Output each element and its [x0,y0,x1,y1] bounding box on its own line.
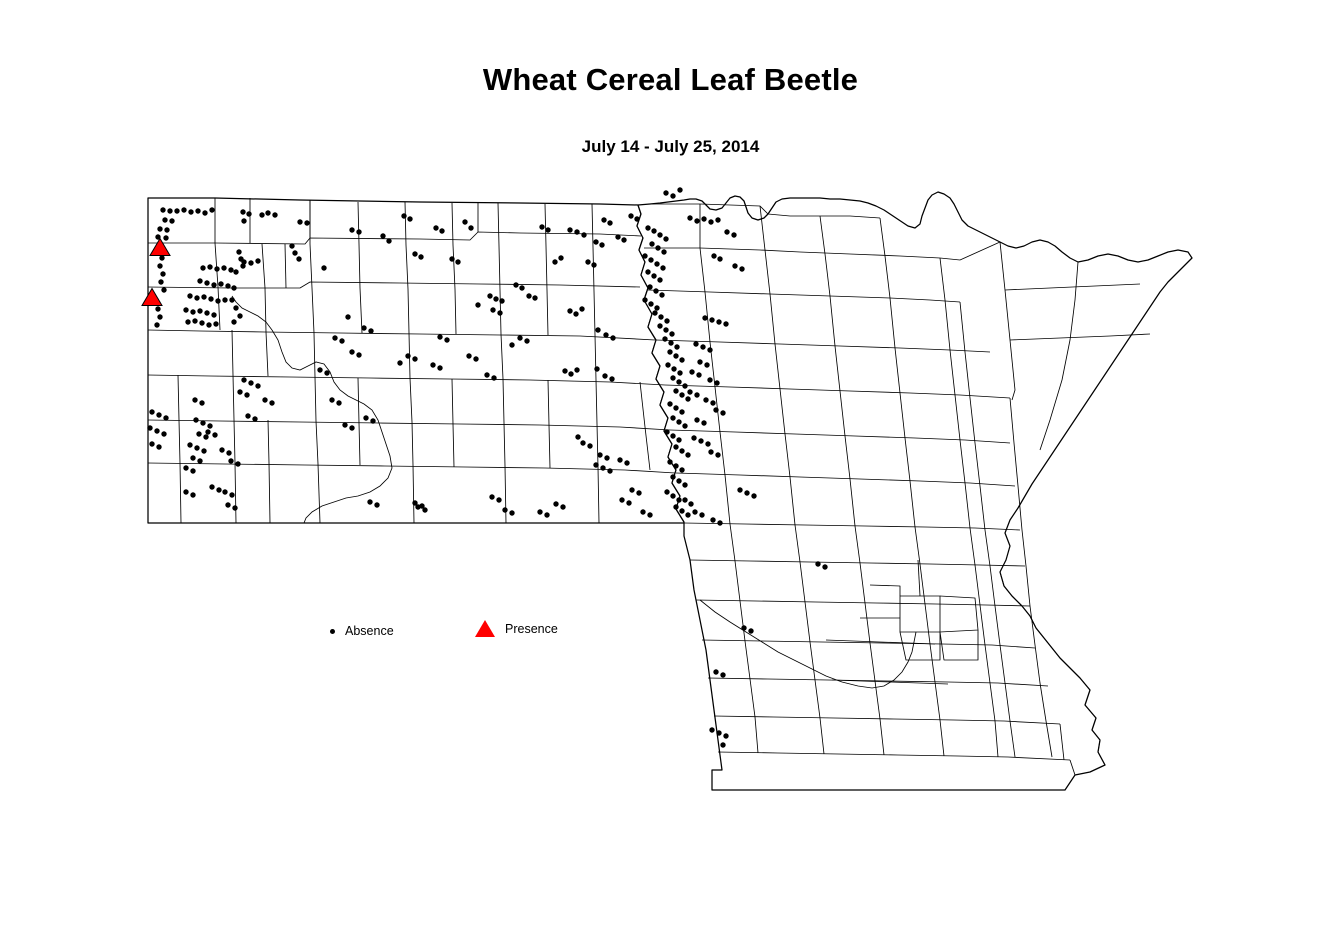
map-point-absence [717,520,722,525]
map-point-absence [231,285,236,290]
map-point-absence [676,379,681,384]
map-point-absence [509,342,514,347]
map-point-absence [691,435,696,440]
map-point-absence [662,336,667,341]
map-point-absence [700,344,705,349]
map-point-absence [553,501,558,506]
map-point-absence [160,271,165,276]
map-point-absence [705,441,710,446]
dot-marker-icon [330,629,335,634]
map-point-absence [636,490,641,495]
map-point-absence [651,228,656,233]
map-point-absence [237,313,242,318]
map-point-absence [188,209,193,214]
map-point-absence [670,433,675,438]
map-point-absence [232,505,237,510]
map-point-absence [815,561,820,566]
map-point-absence [218,281,223,286]
map-point-absence [363,415,368,420]
map-point-absence [149,409,154,414]
map-point-absence [741,625,746,630]
map-point-absence [444,337,449,342]
map-point-absence [342,422,347,427]
map-point-absence [715,452,720,457]
map-point-absence [502,507,507,512]
map-point-absence [649,241,654,246]
map-point-absence [195,208,200,213]
map-point-absence [708,449,713,454]
map-point-absence [490,307,495,312]
map-point-absence [401,213,406,218]
map-point-absence [664,489,669,494]
map-point-absence [707,377,712,382]
map-point-absence [748,628,753,633]
map-point-absence [233,269,238,274]
map-point-absence [248,380,253,385]
map-point-absence [658,314,663,319]
map-point-absence [682,497,687,502]
map-point-absence [221,265,226,270]
map-point-absence [241,218,246,223]
map-point-absence [716,319,721,324]
map-point-absence [499,298,504,303]
map-point-absence [233,305,238,310]
map-point-absence [624,460,629,465]
map-point-absence [664,429,669,434]
map-point-absence [667,401,672,406]
map-point-absence [629,487,634,492]
map-point-absence [497,310,502,315]
map-point-absence [693,341,698,346]
map-point-absence [455,259,460,264]
map-point-absence [207,423,212,428]
map-point-absence [696,372,701,377]
map-point-absence [661,249,666,254]
map-point-absence [159,255,164,260]
map-point-absence [689,369,694,374]
map-point-absence [214,266,219,271]
map-point-absence [197,458,202,463]
map-point-absence [660,265,665,270]
map-point-absence [192,397,197,402]
map-point-absence [193,417,198,422]
map-point-absence [332,335,337,340]
map-point-absence [665,362,670,367]
map-point-absence [289,243,294,248]
map-point-absence [731,232,736,237]
triangle-marker-icon [475,620,495,637]
map-point-absence [200,420,205,425]
map-point-absence [241,259,246,264]
map-point-absence [517,335,522,340]
map-point-absence [248,260,253,265]
map-point-absence [711,253,716,258]
map-point-absence [513,282,518,287]
map-point-absence [737,487,742,492]
map-point-absence [183,307,188,312]
map-point-absence [581,232,586,237]
map-point-absence [663,327,668,332]
map-point-absence [669,331,674,336]
map-point-absence [484,372,489,377]
legend-item-presence[interactable]: Presence [475,620,558,637]
map-canvas[interactable] [0,0,1341,926]
legend-label-absence: Absence [345,624,394,638]
map-point-absence [679,448,684,453]
map-point-absence [673,405,678,410]
map-point-absence [648,257,653,262]
map-point-absence [209,484,214,489]
map-point-absence [509,510,514,515]
map-point-absence [634,216,639,221]
map-point-absence [677,370,682,375]
map-point-absence [197,308,202,313]
map-point-absence [370,418,375,423]
map-point-absence [174,208,179,213]
map-point-absence [607,220,612,225]
map-point-absence [642,297,647,302]
map-point-absence [654,261,659,266]
map-point-absence [679,409,684,414]
map-point-absence [339,338,344,343]
map-point-absence [222,489,227,494]
map-point-absence [701,420,706,425]
map-point-absence [702,315,707,320]
map-point-absence [147,425,152,430]
map-point-absence [600,465,605,470]
map-point-absence [199,400,204,405]
map-point-absence [567,308,572,313]
map-point-absence [822,564,827,569]
map-point-absence [670,474,675,479]
map-point-absence [562,368,567,373]
map-point-absence [679,392,684,397]
map-point-absence [723,321,728,326]
map-point-absence [708,219,713,224]
map-point-absence [673,463,678,468]
map-point-absence [670,193,675,198]
map-point-absence [716,730,721,735]
map-point-absence [651,273,656,278]
map-point-absence [537,509,542,514]
map-point-absence [732,263,737,268]
map-point-absence [449,256,454,261]
map-point-absence [663,236,668,241]
map-point-absence [491,375,496,380]
map-point-absence [699,512,704,517]
map-point-absence [664,318,669,323]
map-point-absence [204,310,209,315]
map-point-absence [252,416,257,421]
map-point-absence [704,362,709,367]
map-point-absence [269,400,274,405]
map-point-absence [204,280,209,285]
map-point-absence [694,218,699,223]
map-point-absence [573,311,578,316]
map-point-absence [158,279,163,284]
map-point-absence [197,278,202,283]
map-point-absence [462,219,467,224]
map-point-absence [475,302,480,307]
map-point-absence [292,250,297,255]
map-point-absence [229,297,234,302]
map-point-absence [187,293,192,298]
map-point-absence [231,319,236,324]
map-point-absence [677,187,682,192]
map-point-absence [593,462,598,467]
map-point-absence [593,239,598,244]
map-point-absence [187,442,192,447]
map-point-absence [676,437,681,442]
map-point-absence [437,365,442,370]
map-point-absence [679,357,684,362]
map-point-absence [185,319,190,324]
map-point-absence [673,353,678,358]
map-point-absence [545,227,550,232]
map-point-absence [692,509,697,514]
map-point-absence [657,323,662,328]
map-point-absence [626,500,631,505]
map-point-absence [345,314,350,319]
minnesota-outline [637,192,1192,790]
map-point-absence [673,444,678,449]
map-point-absence [161,287,166,292]
map-point-absence [647,284,652,289]
map-point-absence [222,297,227,302]
map-point-absence [720,672,725,677]
map-point-absence [751,493,756,498]
map-point-absence [723,733,728,738]
map-point-absence [574,367,579,372]
map-point-absence [181,207,186,212]
map-svg [0,0,1341,926]
map-point-absence [682,482,687,487]
map-point-absence [710,400,715,405]
map-point-absence [601,217,606,222]
map-point-absence [219,447,224,452]
map-point-absence [262,397,267,402]
map-point-absence [720,742,725,747]
map-point-absence [707,347,712,352]
legend: Absence Presence [320,620,620,654]
map-point-absence [682,423,687,428]
map-point-absence [628,213,633,218]
map-point-absence [602,373,607,378]
map-point-absence [715,217,720,222]
map-point-absence [216,487,221,492]
map-point-absence [160,207,165,212]
map-point-absence [667,349,672,354]
map-point-absence [225,283,230,288]
map-point-absence [558,255,563,260]
map-point-absence [674,344,679,349]
map-point-absence [149,441,154,446]
map-point-absence [418,254,423,259]
map-point-absence [687,389,692,394]
map-point-absence [155,306,160,311]
map-point-absence [544,512,549,517]
map-point-absence [183,489,188,494]
map-point-absence [697,359,702,364]
map-point-absence [412,251,417,256]
map-point-absence [163,235,168,240]
map-point-absence [694,417,699,422]
map-point-absence [164,227,169,232]
map-point-absence [688,501,693,506]
map-point-absence [329,397,334,402]
map-point-absence [157,314,162,319]
map-point-absence [259,212,264,217]
map-point-absence [190,492,195,497]
map-point-absence [493,296,498,301]
map-point-absence [714,380,719,385]
map-point-absence [255,383,260,388]
map-point-absence [594,366,599,371]
map-point-absence [244,392,249,397]
map-point-absence [336,400,341,405]
map-point-absence [156,444,161,449]
map-point-absence [679,508,684,513]
map-point-absence [567,227,572,232]
legend-label-presence: Presence [505,622,558,636]
map-point-absence [163,415,168,420]
map-point-absence [211,282,216,287]
map-point-absence [412,356,417,361]
map-point-absence [607,468,612,473]
map-point-absence [439,228,444,233]
map-point-absence [194,295,199,300]
map-point-absence [154,428,159,433]
map-point-absence [265,210,270,215]
map-point-absence [154,322,159,327]
map-point-absence [356,352,361,357]
map-point-absence [670,415,675,420]
map-point-absence [190,309,195,314]
map-point-absence [673,388,678,393]
map-point-absence [496,497,501,502]
map-point-absence [367,499,372,504]
map-point-absence [713,669,718,674]
map-point-absence [659,292,664,297]
map-point-absence [610,335,615,340]
map-point-absence [645,225,650,230]
map-point-absence [539,224,544,229]
map-point-absence [489,494,494,499]
map-point-absence [208,296,213,301]
map-point-absence [519,285,524,290]
map-point-absence [255,258,260,263]
map-point-absence [225,502,230,507]
legend-item-absence[interactable]: Absence [330,624,394,638]
map-point-absence [380,233,385,238]
state-outlines [148,192,1192,790]
map-point-absence [710,517,715,522]
map-point-absence [621,237,626,242]
map-point-absence [386,238,391,243]
map-point-absence [698,438,703,443]
map-point-absence [405,353,410,358]
map-point-absence [657,277,662,282]
map-point-absence [682,383,687,388]
map-point-absence [157,263,162,268]
map-point-absence [744,490,749,495]
map-point-absence [349,425,354,430]
map-point-absence [194,445,199,450]
map-point-absence [169,218,174,223]
map-point-absence [487,293,492,298]
map-point-absence [668,340,673,345]
map-point-absence [575,434,580,439]
map-point-absence [645,269,650,274]
map-point-absence [609,376,614,381]
map-point-absence [473,356,478,361]
map-point-absence [296,256,301,261]
map-point-absence [652,310,657,315]
map-point-absence [676,419,681,424]
map-point-absence [671,366,676,371]
map-point-absence [597,452,602,457]
map-point-absence [430,362,435,367]
map-point-absence [587,443,592,448]
map-point-absence [240,209,245,214]
map-point-absence [215,298,220,303]
map-point-absence [579,306,584,311]
map-point-absence [599,242,604,247]
map-point-absence [324,370,329,375]
map-point-absence [685,452,690,457]
map-point-absence [397,360,402,365]
map-point-absence [415,504,420,509]
map-point-absence [196,431,201,436]
map-point-absence [317,367,322,372]
map-point-absence [585,259,590,264]
map-point-absence [211,312,216,317]
map-point-absence [655,245,660,250]
map-point-absence [205,429,210,434]
map-point-absence [647,512,652,517]
map-point-absence [368,328,373,333]
map-point-absence [670,493,675,498]
map-point-absence [703,397,708,402]
map-point-absence [642,253,647,258]
map-point-absence [663,190,668,195]
map-point-absence [202,210,207,215]
map-point-absence [356,229,361,234]
map-point-absence [580,440,585,445]
map-point-absence [685,512,690,517]
map-point-absence [321,265,326,270]
map-point-absence [653,288,658,293]
map-point-absence [720,410,725,415]
map-point-absence [157,226,162,231]
map-point-absence [526,293,531,298]
map-point-absence [595,327,600,332]
map-point-absence [246,211,251,216]
map-point-absence [673,504,678,509]
map-point-absence [532,295,537,300]
map-point-absence [272,212,277,217]
map-point-absence [201,294,206,299]
map-point-absence [407,216,412,221]
map-point-absence [687,215,692,220]
map-point-absence [670,375,675,380]
map-point-absence [713,407,718,412]
map-point-absence [591,262,596,267]
map-point-absence [212,432,217,437]
map-point-absence [349,349,354,354]
map-point-absence [617,457,622,462]
map-point-absence [235,461,240,466]
